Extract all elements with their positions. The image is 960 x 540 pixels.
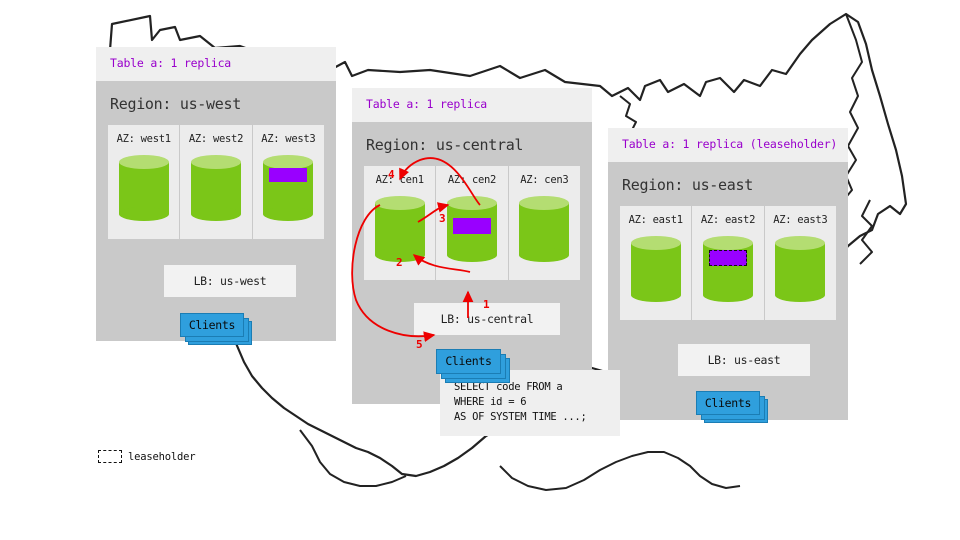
node-cylinder-east1[interactable] (631, 236, 681, 302)
load-balancer-us-east[interactable]: LB: us-east (678, 344, 810, 376)
az-cell-east3[interactable]: AZ: east3 (764, 206, 836, 320)
arrow-label-5: 5 (416, 338, 422, 351)
node-cylinder-east2[interactable] (703, 236, 753, 302)
az-label-cen1: AZ: cen1 (364, 174, 435, 186)
region-header-us-central: Table a: 1 replica (352, 88, 592, 122)
az-label-cen3: AZ: cen3 (509, 174, 580, 186)
legend-label: leaseholder (128, 451, 195, 463)
arrow-label-4: 4 (388, 168, 394, 181)
az-row-us-west: AZ: west1 AZ: west2 AZ (108, 125, 324, 239)
arrow-label-3: 3 (439, 212, 445, 225)
region-panel-us-west: Table a: 1 replica Region: us-west AZ: w… (96, 47, 336, 341)
az-label-west1: AZ: west1 (108, 133, 179, 145)
clients-label-us-east: Clients (696, 391, 760, 415)
node-cylinder-east3[interactable] (775, 236, 825, 302)
arrow-label-1: 1 (483, 298, 489, 311)
az-cell-cen2[interactable]: AZ: cen2 (435, 166, 507, 280)
node-cylinder-west2[interactable] (191, 155, 241, 221)
az-cell-west2[interactable]: AZ: west2 (179, 125, 251, 239)
clients-stack-us-central[interactable]: Clients (436, 349, 512, 383)
region-panel-us-east: Table a: 1 replica (leaseholder) Region:… (608, 128, 848, 420)
region-header-us-east: Table a: 1 replica (leaseholder) (608, 128, 848, 162)
clients-label-us-west: Clients (180, 313, 244, 337)
az-label-east1: AZ: east1 (620, 214, 691, 226)
az-cell-east2[interactable]: AZ: east2 (691, 206, 763, 320)
replica-block-west3[interactable] (269, 168, 307, 182)
clients-label-us-central: Clients (436, 349, 501, 374)
diagram-canvas: Table a: 1 replica Region: us-west AZ: w… (0, 0, 960, 540)
clients-stack-us-west[interactable]: Clients (180, 313, 252, 345)
az-label-west2: AZ: west2 (180, 133, 251, 145)
az-cell-west1[interactable]: AZ: west1 (108, 125, 179, 239)
node-cylinder-west1[interactable] (119, 155, 169, 221)
az-row-us-east: AZ: east1 AZ: east2 (620, 206, 836, 320)
arrow-label-2: 2 (396, 256, 402, 269)
load-balancer-us-west[interactable]: LB: us-west (164, 265, 296, 297)
replica-block-east2-leaseholder[interactable] (709, 250, 747, 266)
region-title-us-central: Region: us-central (352, 122, 592, 166)
az-label-west3: AZ: west3 (253, 133, 324, 145)
region-title-us-west: Region: us-west (96, 81, 336, 125)
az-label-east2: AZ: east2 (692, 214, 763, 226)
az-cell-east1[interactable]: AZ: east1 (620, 206, 691, 320)
region-header-us-west: Table a: 1 replica (96, 47, 336, 81)
az-cell-cen3[interactable]: AZ: cen3 (508, 166, 580, 280)
az-label-east3: AZ: east3 (765, 214, 836, 226)
leaseholder-swatch-icon (98, 450, 122, 463)
replica-block-cen2[interactable] (453, 218, 491, 234)
node-cylinder-cen2[interactable] (447, 196, 497, 262)
clients-stack-us-east[interactable]: Clients (696, 391, 770, 423)
node-cylinder-cen1[interactable] (375, 196, 425, 262)
az-label-cen2: AZ: cen2 (436, 174, 507, 186)
node-cylinder-west3[interactable] (263, 155, 313, 221)
region-panel-us-central: Table a: 1 replica Region: us-central AZ… (352, 88, 592, 404)
az-cell-west3[interactable]: AZ: west3 (252, 125, 324, 239)
node-cylinder-cen3[interactable] (519, 196, 569, 262)
region-title-us-east: Region: us-east (608, 162, 848, 206)
legend-leaseholder: leaseholder (98, 450, 195, 463)
